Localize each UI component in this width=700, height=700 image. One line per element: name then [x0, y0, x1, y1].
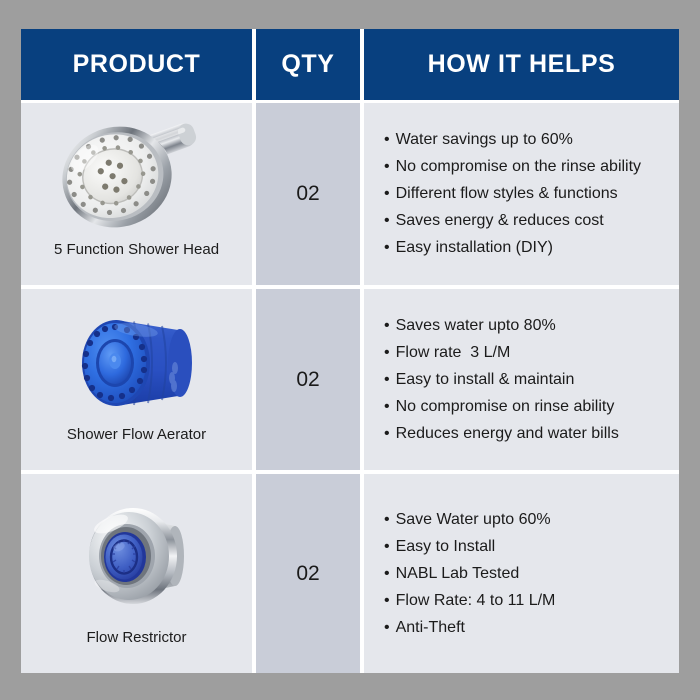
- benefit-item: •Flow rate 3 L/M: [384, 339, 669, 366]
- benefit-item: •Easy to Install: [384, 533, 669, 560]
- table-row: Flow Restrictor 02 •Save Water upto 60% …: [21, 474, 679, 673]
- benefit-item: •No compromise on the rinse ability: [384, 154, 669, 181]
- benefits-cell: •Water savings up to 60% •No compromise …: [364, 103, 679, 285]
- qty-cell: 02: [256, 103, 360, 285]
- column-header-qty: QTY: [256, 29, 360, 100]
- benefit-text: Save Water upto 60%: [396, 511, 551, 528]
- qty-cell: 02: [256, 474, 360, 673]
- benefit-item: •Water savings up to 60%: [384, 127, 669, 154]
- benefit-item: •Saves water upto 80%: [384, 312, 669, 339]
- benefit-item: •Different flow styles & functions: [384, 181, 669, 208]
- product-cell: Flow Restrictor: [21, 474, 252, 673]
- table-header-row: PRODUCT QTY HOW IT HELPS: [21, 29, 679, 100]
- bullet-icon: •: [384, 239, 390, 256]
- shower-head-image: [21, 111, 252, 241]
- benefit-item: •Saves energy & reduces cost: [384, 208, 669, 235]
- product-name: Shower Flow Aerator: [61, 426, 212, 470]
- benefit-text: Flow Rate: 4 to 11 L/M: [396, 592, 556, 609]
- benefit-text: No compromise on rinse ability: [396, 398, 615, 415]
- bullet-icon: •: [384, 371, 390, 388]
- bullet-icon: •: [384, 398, 390, 415]
- benefit-item: •Save Water upto 60%: [384, 506, 669, 533]
- bullet-icon: •: [384, 344, 390, 361]
- benefit-text: Anti-Theft: [396, 619, 465, 636]
- page-frame: PRODUCT QTY HOW IT HELPS: [0, 0, 700, 700]
- shower-flow-aerator-image: [21, 297, 252, 426]
- benefit-text: Reduces energy and water bills: [396, 425, 619, 442]
- qty-cell: 02: [256, 289, 360, 470]
- bullet-icon: •: [384, 619, 390, 636]
- benefit-item: •Anti-Theft: [384, 614, 669, 641]
- product-cell: Shower Flow Aerator: [21, 289, 252, 470]
- bullet-icon: •: [384, 212, 390, 229]
- benefit-text: Different flow styles & functions: [396, 185, 618, 202]
- bullet-icon: •: [384, 131, 390, 148]
- bullet-icon: •: [384, 317, 390, 334]
- benefit-text: Easy to Install: [396, 538, 496, 555]
- bullet-icon: •: [384, 185, 390, 202]
- benefit-item: •Easy installation (DIY): [384, 235, 669, 262]
- benefit-item: •NABL Lab Tested: [384, 560, 669, 587]
- benefit-text: NABL Lab Tested: [396, 565, 520, 582]
- table-row: Shower Flow Aerator 02 •Saves water upto…: [21, 289, 679, 470]
- benefits-cell: •Save Water upto 60% •Easy to Install •N…: [364, 474, 679, 673]
- table-row: 5 Function Shower Head 02 •Water savings…: [21, 103, 679, 285]
- product-cell: 5 Function Shower Head: [21, 103, 252, 285]
- benefits-cell: •Saves water upto 80% •Flow rate 3 L/M •…: [364, 289, 679, 470]
- benefit-item: •Easy to install & maintain: [384, 366, 669, 393]
- benefit-text: Flow rate 3 L/M: [396, 344, 511, 361]
- product-name: Flow Restrictor: [80, 629, 192, 673]
- benefit-item: •No compromise on rinse ability: [384, 393, 669, 420]
- bullet-icon: •: [384, 538, 390, 555]
- column-header-how-it-helps: HOW IT HELPS: [364, 29, 679, 100]
- benefit-item: •Reduces energy and water bills: [384, 420, 669, 447]
- benefit-item: •Flow Rate: 4 to 11 L/M: [384, 587, 669, 614]
- product-comparison-table: PRODUCT QTY HOW IT HELPS: [21, 29, 679, 673]
- benefit-text: Saves energy & reduces cost: [396, 212, 604, 229]
- benefit-text: No compromise on the rinse ability: [396, 158, 641, 175]
- benefit-text: Easy installation (DIY): [396, 239, 553, 256]
- flow-restrictor-image: [21, 482, 252, 629]
- bullet-icon: •: [384, 158, 390, 175]
- benefit-text: Easy to install & maintain: [396, 371, 575, 388]
- bullet-icon: •: [384, 511, 390, 528]
- bullet-icon: •: [384, 565, 390, 582]
- bullet-icon: •: [384, 425, 390, 442]
- bullet-icon: •: [384, 592, 390, 609]
- benefit-text: Water savings up to 60%: [396, 131, 573, 148]
- benefit-text: Saves water upto 80%: [396, 317, 556, 334]
- product-name: 5 Function Shower Head: [48, 241, 225, 285]
- column-header-product: PRODUCT: [21, 29, 252, 100]
